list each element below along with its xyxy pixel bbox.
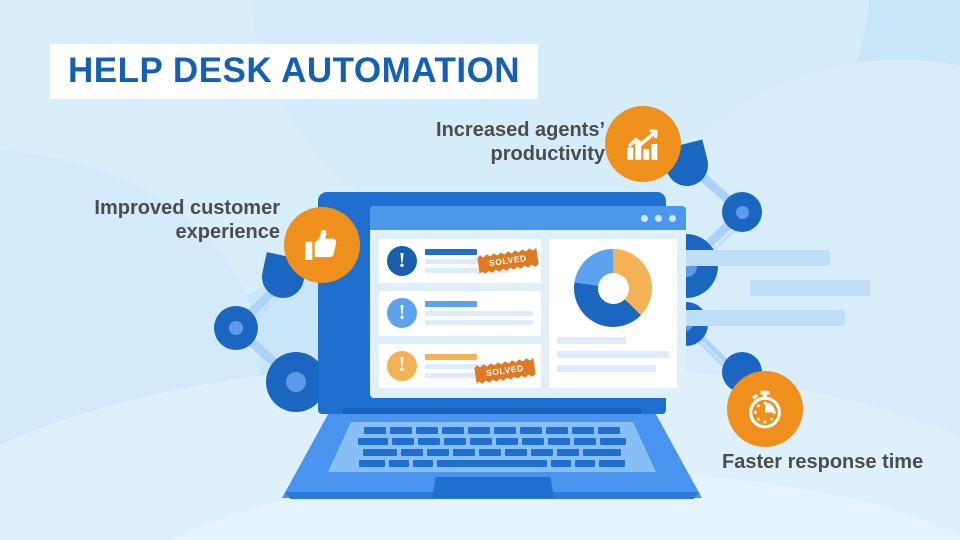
keyboard-row xyxy=(334,460,650,467)
bar-chart-arrow-up-icon xyxy=(622,123,664,165)
callout-label-improved-customer-experience: Improved customer experience xyxy=(20,196,280,245)
laptop-screen: ! SOLVED ! xyxy=(370,206,686,398)
alert-exclamation-icon: ! xyxy=(387,351,417,381)
ticket-row[interactable]: ! SOLVED xyxy=(379,239,541,283)
badge-improved-customer-experience[interactable] xyxy=(284,207,360,283)
network-node-left-upper xyxy=(214,306,258,350)
title-banner: HELP DESK AUTOMATION xyxy=(50,44,538,99)
window-titlebar xyxy=(370,206,686,230)
keyboard-row xyxy=(334,438,650,445)
alert-exclamation-icon: ! xyxy=(387,246,417,276)
stopwatch-icon xyxy=(744,388,786,430)
window-dot[interactable] xyxy=(655,215,662,222)
keyboard-row xyxy=(334,427,650,434)
laptop-keyboard xyxy=(328,422,656,472)
window-body: ! SOLVED ! xyxy=(370,230,686,398)
callout-label-increased-agents-productivity: Increased agents’ productivity xyxy=(330,118,605,167)
ticket-row[interactable]: ! SOLVED xyxy=(379,344,541,388)
window-control-dots[interactable] xyxy=(641,215,676,222)
thumbs-up-icon xyxy=(302,225,342,265)
decor-strips xyxy=(680,250,960,370)
infographic-canvas: ! SOLVED ! xyxy=(0,0,960,540)
alert-exclamation-icon: ! xyxy=(387,298,417,328)
ticket-row[interactable]: ! xyxy=(379,291,541,335)
laptop-trackpad xyxy=(432,477,554,498)
network-node-right-top xyxy=(722,192,762,232)
analytics-text-lines xyxy=(557,337,669,372)
analytics-panel xyxy=(549,239,677,388)
badge-faster-response-time[interactable] xyxy=(727,371,803,447)
laptop-lid: ! SOLVED ! xyxy=(318,192,666,414)
window-dot[interactable] xyxy=(669,215,676,222)
ticket-text-lines xyxy=(425,301,533,325)
window-dot[interactable] xyxy=(641,215,648,222)
callout-label-faster-response-time: Faster response time xyxy=(722,450,942,474)
badge-increased-agents-productivity[interactable] xyxy=(605,106,681,182)
page-title: HELP DESK AUTOMATION xyxy=(68,53,520,88)
ticket-list: ! SOLVED ! xyxy=(379,239,541,388)
donut-chart xyxy=(574,249,652,327)
keyboard-row xyxy=(334,449,650,456)
